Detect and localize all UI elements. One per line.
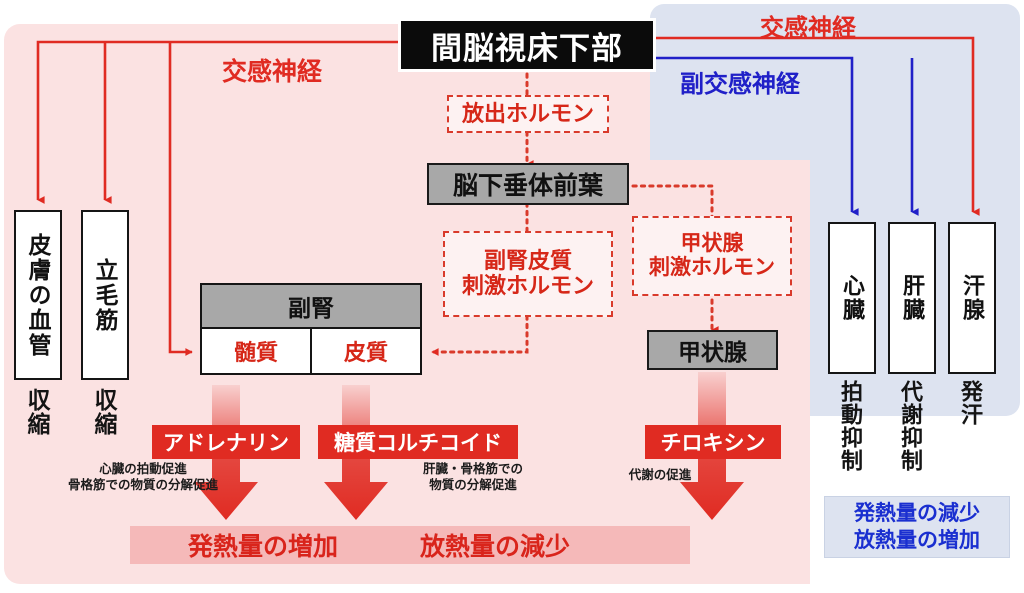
secretion-glucocorticoid-note-line2: 物質の分解促進 — [378, 478, 568, 494]
acth-line-2: 刺激ホルモン — [462, 274, 594, 299]
effector-arrector-pili-effect: 収縮 — [87, 388, 121, 436]
tsh-line-1: 甲状腺 — [681, 232, 744, 256]
secretion-adrenaline-note-line2: 骨格筋での物質の分解促進 — [28, 478, 258, 494]
secretion-adrenaline-box: アドレナリン — [152, 425, 300, 459]
label-sympathetic-right: 交感神経 — [760, 8, 856, 43]
label-sympathetic-left: 交感神経 — [222, 52, 322, 88]
secretion-glucocorticoid-box: 糖質コルチコイド — [318, 425, 518, 459]
secretion-adrenaline-note-line1: 心臓の拍動促進 — [28, 462, 258, 478]
heat-loss-decrease: 放熱量の減少 — [420, 527, 570, 563]
effector-arrector-pili-box: 立毛筋 — [81, 210, 129, 380]
effector-liver-effect: 代謝抑制 — [894, 380, 926, 472]
heat-summary-band: 発熱量の増加 放熱量の減少 — [130, 526, 690, 564]
adrenal-medulla-cell: 髄質 — [200, 327, 312, 375]
secretion-thyroxine-box: チロキシン — [645, 425, 781, 459]
heat-production-decrease: 発熱量の減少 — [854, 500, 980, 527]
secretion-thyroxine-note-line1: 代謝の促進 — [600, 468, 720, 484]
acth-line-1: 副腎皮質 — [484, 249, 572, 274]
cooling-summary-box: 発熱量の減少 放熱量の増加 — [824, 496, 1010, 558]
secretion-adrenaline-note: 心臓の拍動促進 骨格筋での物質の分解促進 — [28, 462, 258, 493]
adrenal-header: 副腎 — [200, 283, 422, 329]
pituitary-box: 脳下垂体前葉 — [427, 163, 629, 205]
secretion-glucocorticoid-note: 肝臓・骨格筋での 物質の分解促進 — [378, 462, 568, 493]
releasing-hormone-box: 放出ホルモン — [447, 95, 609, 133]
thyroid-box: 甲状腺 — [647, 330, 778, 370]
effector-skin-vessel-effect: 収縮 — [20, 388, 54, 436]
diagram-canvas: 間脳視床下部 交感神経 交感神経 副交感神経 放出ホルモン 副腎皮質 刺激ホルモ… — [0, 0, 1024, 593]
tsh-line-2: 刺激ホルモン — [649, 256, 775, 280]
effector-sweat-gland-effect: 発汗 — [954, 380, 986, 426]
tsh-box: 甲状腺 刺激ホルモン — [632, 216, 792, 296]
effector-heart-effect: 拍動抑制 — [834, 380, 866, 472]
label-parasympathetic-right: 副交感神経 — [680, 64, 800, 99]
acth-box: 副腎皮質 刺激ホルモン — [443, 231, 613, 317]
secretion-glucocorticoid-note-line1: 肝臓・骨格筋での — [378, 462, 568, 478]
effector-heart-box: 心臓 — [828, 222, 876, 374]
adrenal-gland-group: 副腎 髄質 皮質 — [200, 283, 422, 375]
adrenal-cortex-cell: 皮質 — [310, 327, 422, 375]
secretion-thyroxine-note: 代謝の促進 — [600, 468, 720, 484]
effector-skin-vessel-box: 皮膚の血管 — [14, 210, 62, 380]
heat-production-increase: 発熱量の増加 — [188, 527, 338, 563]
heat-loss-increase: 放熱量の増加 — [854, 527, 980, 554]
page-title: 間脳視床下部 — [398, 18, 656, 72]
effector-liver-box: 肝臓 — [888, 222, 936, 374]
effector-sweat-gland-box: 汗腺 — [948, 222, 996, 374]
